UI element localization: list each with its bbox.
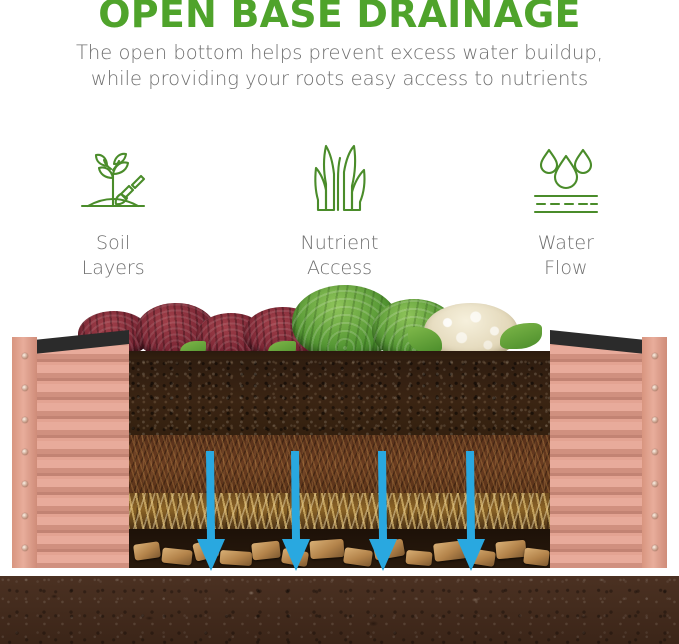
- screw: [652, 481, 658, 487]
- page-title: OPEN BASE DRAINAGE: [0, 0, 679, 36]
- log-chunk: [161, 547, 192, 565]
- screw: [652, 417, 658, 423]
- soil-layer-topsoil: [128, 359, 551, 435]
- grass-blades-icon: [300, 140, 378, 218]
- corner-post-right: [642, 337, 667, 568]
- feature-label-line-1: Nutrient: [301, 231, 379, 256]
- feature-water-flow: Water Flow: [453, 140, 679, 281]
- subtitle-line-1: The open bottom helps prevent excess wat…: [0, 40, 679, 66]
- screw: [652, 545, 658, 551]
- feature-soil-layers: Soil Layers: [0, 140, 226, 281]
- page-subtitle: The open bottom helps prevent excess wat…: [0, 40, 679, 92]
- feature-label-line-2: Layers: [82, 256, 145, 281]
- feature-water-flow-label: Water Flow: [538, 231, 594, 281]
- subtitle-line-2: while providing your roots easy access t…: [0, 66, 679, 92]
- screw: [22, 545, 28, 551]
- feature-label-line-1: Soil: [82, 231, 145, 256]
- water-flow-arrow: [362, 451, 404, 587]
- screw: [22, 353, 28, 359]
- screw: [22, 449, 28, 455]
- feature-label-line-1: Water: [538, 231, 594, 256]
- feature-soil-layers-label: Soil Layers: [82, 231, 145, 281]
- feature-label-line-2: Access: [301, 256, 379, 281]
- screw: [652, 385, 658, 391]
- water-flow-arrow: [450, 451, 492, 587]
- bed-panel-left: [12, 343, 129, 568]
- feature-nutrient-access: Nutrient Access: [226, 140, 452, 281]
- screw: [652, 513, 658, 519]
- plant-trowel-icon: [74, 140, 152, 218]
- screw: [22, 417, 28, 423]
- water-flow-arrow: [275, 451, 317, 587]
- log-chunk: [495, 540, 526, 560]
- infographic-page: OPEN BASE DRAINAGE The open bottom helps…: [0, 0, 679, 644]
- ground-soil: [0, 576, 679, 644]
- screw: [652, 449, 658, 455]
- screw: [22, 481, 28, 487]
- log-chunk: [405, 550, 432, 566]
- log-chunk: [523, 548, 550, 567]
- screw: [22, 513, 28, 519]
- bed-panel-right: [550, 343, 667, 568]
- screw: [22, 385, 28, 391]
- feature-label-line-2: Flow: [538, 256, 594, 281]
- water-flow-arrow: [190, 451, 232, 587]
- garden-bed-scene: [0, 283, 679, 644]
- feature-row: Soil Layers Nutrient Access: [0, 140, 679, 281]
- log-chunk: [133, 541, 161, 560]
- screw: [652, 353, 658, 359]
- feature-nutrient-access-label: Nutrient Access: [301, 231, 379, 281]
- corner-post-left: [12, 337, 37, 568]
- water-droplets-icon: [527, 140, 605, 218]
